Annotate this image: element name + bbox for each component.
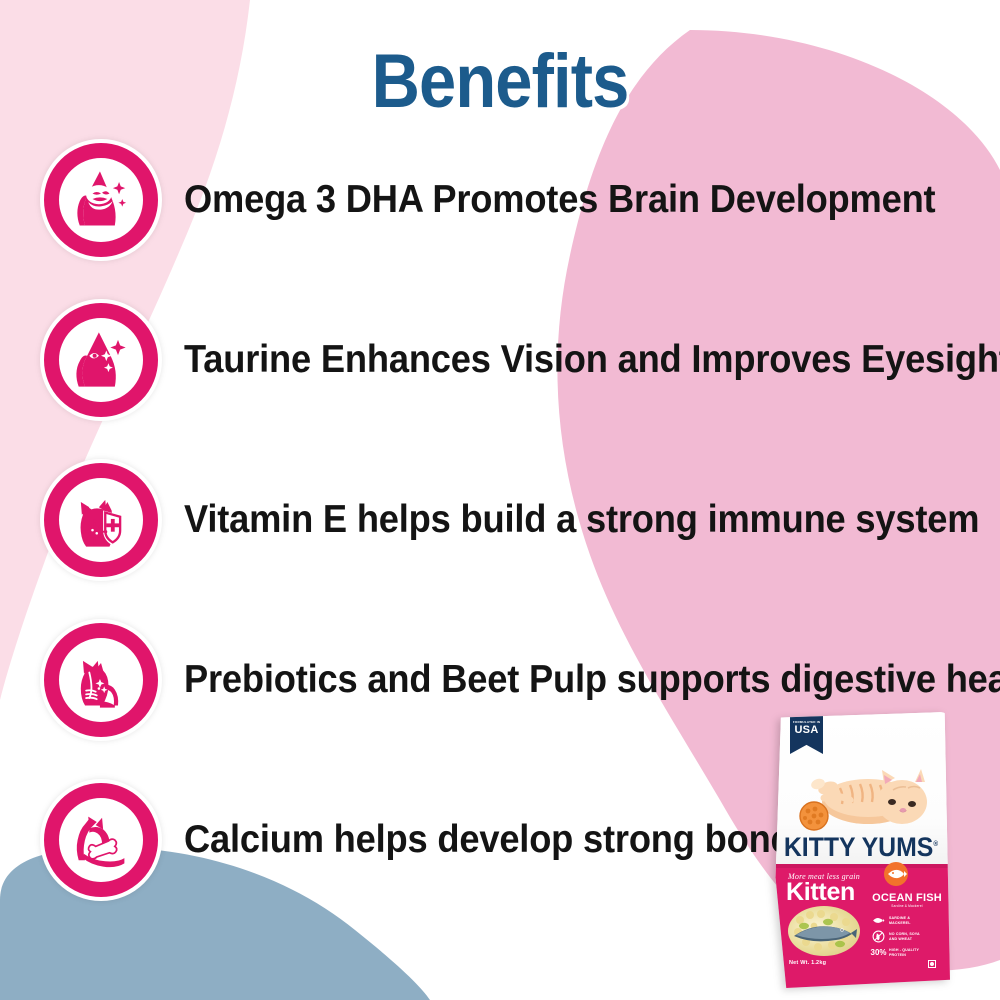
benefit-text-2: Taurine Enhances Vision and Improves Eye… — [184, 340, 1000, 381]
pack-feature-2: NO CORN, SOYA AND WHEAT — [872, 930, 920, 943]
fish-icon — [872, 914, 885, 927]
pack-feature-3: 30% HIGH - QUALITY PROTEIN — [872, 946, 919, 959]
benefits-infographic: Benefits — [0, 0, 1000, 1000]
product-pack-image: FORMULATED IN USA KITTY YUMS® More meat … — [772, 712, 950, 988]
benefit-icon-badge-4 — [40, 619, 162, 741]
pack-feature-1-label: SARDINE & MACKEREL — [889, 916, 911, 925]
pack-feature-2-label: NO CORN, SOYA AND WHEAT — [889, 932, 920, 941]
cat-shield-immunity-icon — [67, 486, 135, 554]
benefit-text-3: Vitamin E helps build a strong immune sy… — [184, 500, 979, 541]
benefit-icon-badge-3 — [40, 459, 162, 581]
trademark-symbol: ® — [933, 841, 938, 848]
pack-feature-3-label: HIGH - QUALITY PROTEIN — [889, 948, 919, 957]
protein-percent-value: 30% — [872, 946, 885, 959]
cat-eye-vision-icon — [67, 326, 135, 394]
cat-brain-icon — [67, 166, 135, 234]
no-grain-icon — [872, 930, 885, 943]
fish-badge-icon — [884, 862, 908, 886]
benefit-icon-badge-5 — [40, 779, 162, 901]
benefit-text-4: Prebiotics and Beet Pulp supports digest… — [184, 660, 1000, 701]
usa-badge-text: USA — [794, 724, 818, 737]
benefit-row-1: Omega 3 DHA Promotes Brain Development — [40, 135, 980, 265]
benefit-icon-badge-1 — [40, 139, 162, 261]
cat-digestive-icon — [67, 646, 135, 714]
net-weight-label: Net Wt. 1.2kg — [789, 960, 826, 966]
page-title: Benefits — [60, 38, 940, 125]
benefit-text-5: Calcium helps develop strong bones — [184, 820, 811, 861]
benefit-text-1: Omega 3 DHA Promotes Brain Development — [184, 180, 935, 221]
flavour-label: OCEAN FISH — [872, 892, 942, 904]
life-stage-label: Kitten — [786, 878, 855, 907]
food-bowl-image — [788, 906, 860, 956]
brand-name: KITTY YUMS® — [779, 832, 943, 863]
benefit-row-2: Taurine Enhances Vision and Improves Eye… — [40, 295, 980, 425]
benefit-row-3: Vitamin E helps build a strong immune sy… — [40, 455, 980, 585]
kibble-and-fish-art — [788, 906, 860, 956]
flavour-sublabel: Sardine & Mackerel — [872, 904, 942, 908]
fish-glyph-icon — [884, 862, 908, 886]
brand-name-text: KITTY YUMS — [784, 832, 934, 862]
benefit-icon-badge-2 — [40, 299, 162, 421]
veg-nonveg-mark-icon — [928, 960, 936, 968]
cat-bone-calcium-icon — [67, 806, 135, 874]
pack-body: FORMULATED IN USA KITTY YUMS® More meat … — [772, 712, 950, 988]
pack-feature-1: SARDINE & MACKEREL — [872, 914, 911, 927]
